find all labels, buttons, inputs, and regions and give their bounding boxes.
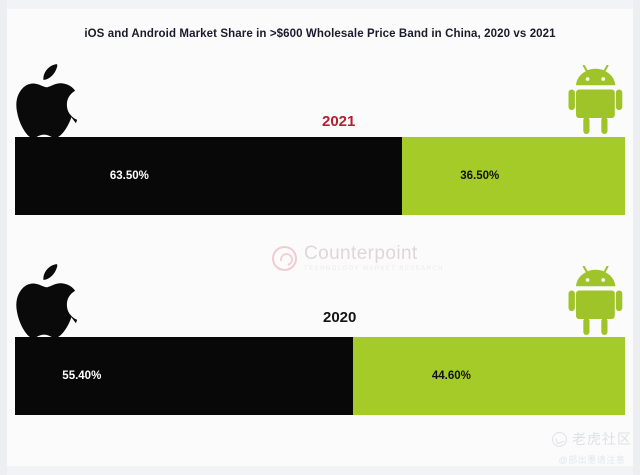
counterpoint-name: Counterpoint bbox=[304, 244, 444, 263]
android-robot-icon bbox=[568, 65, 630, 139]
chart-title: iOS and Android Market Share in >$600 Wh… bbox=[0, 28, 640, 40]
bar-row-2021: 63.50% 36.50% bbox=[15, 137, 625, 215]
bar-segment-ios-2020: 55.40% bbox=[15, 337, 353, 415]
counterpoint-logo: Counterpoint TECHNOLOGY MARKET RESEARCH bbox=[272, 244, 444, 272]
canvas-edge-left bbox=[0, 0, 7, 475]
watermark-mark-icon bbox=[552, 432, 567, 447]
bar-segment-ios-2021: 63.50% bbox=[15, 137, 402, 215]
bar-segment-android-2021: 36.50% bbox=[402, 137, 625, 215]
bar-label-ios-2021: 63.50% bbox=[110, 170, 149, 182]
canvas-edge-right bbox=[633, 0, 640, 475]
source-watermark: 老虎社区 @部出墨请注意 bbox=[552, 429, 632, 466]
bar-segment-android-2020: 44.60% bbox=[353, 337, 625, 415]
watermark-name: 老虎社区 bbox=[572, 429, 632, 449]
canvas-edge-bottom bbox=[0, 466, 640, 475]
counterpoint-mark-icon bbox=[272, 246, 297, 271]
canvas-edge-top bbox=[0, 0, 640, 9]
bar-label-ios-2020: 55.40% bbox=[62, 370, 101, 382]
bar-label-android-2021: 36.50% bbox=[460, 170, 499, 182]
counterpoint-tagline: TECHNOLOGY MARKET RESEARCH bbox=[304, 266, 444, 272]
apple-logo-icon bbox=[12, 62, 84, 140]
source-watermark-row: 老虎社区 bbox=[552, 429, 632, 449]
watermark-subtext: @部出墨请注意 bbox=[552, 453, 632, 466]
bar-label-android-2020: 44.60% bbox=[432, 370, 471, 382]
counterpoint-text: Counterpoint TECHNOLOGY MARKET RESEARCH bbox=[304, 244, 444, 272]
year-label-2020: 2020 bbox=[323, 309, 356, 326]
bar-row-2020: 55.40% 44.60% bbox=[15, 337, 625, 415]
android-robot-icon-2020 bbox=[568, 266, 630, 340]
apple-logo-icon-2020 bbox=[12, 262, 84, 340]
year-label-2021: 2021 bbox=[322, 113, 355, 130]
chart-canvas: iOS and Android Market Share in >$600 Wh… bbox=[0, 0, 640, 475]
